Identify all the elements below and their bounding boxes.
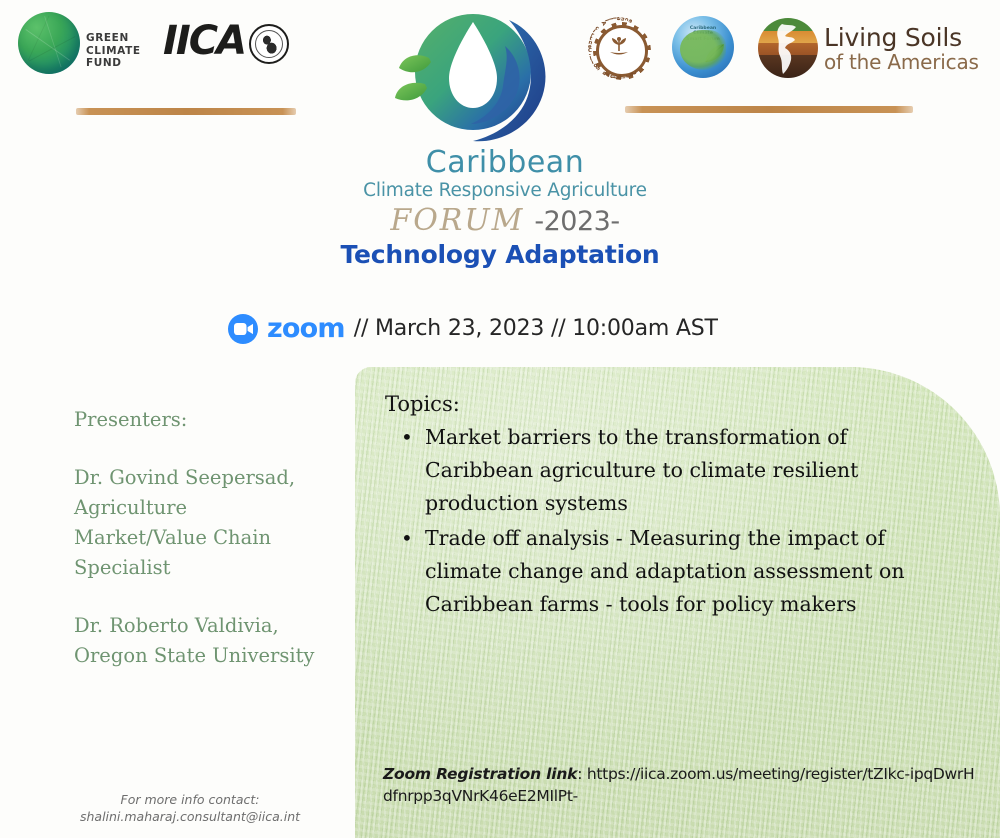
leaf-icon: [701, 40, 727, 66]
presenter-entry-1: Dr. Govind Seepersad, Agriculture Market…: [74, 463, 334, 583]
registration-label: Zoom Registration link: [383, 765, 577, 783]
living-soils-line-1: Living Soils: [824, 24, 979, 51]
living-soils-line-2: of the Americas: [824, 51, 979, 73]
contact-prompt: For more info contact:: [30, 792, 350, 809]
green-climate-fund-globe-icon: [18, 12, 80, 74]
gcf-line-1: GREEN: [86, 32, 141, 45]
presenters-spacer-1: [74, 435, 334, 463]
presenters-heading: Presenters:: [74, 405, 334, 435]
presenters-spacer-2: [74, 583, 334, 611]
registration-separator: :: [577, 765, 582, 783]
americas-silhouette: [758, 18, 818, 78]
climate-globe-logo: Caribbean ClimateSmart Forum: [672, 16, 734, 78]
gcf-line-2: CLIMATE: [86, 45, 141, 58]
green-climate-fund-logo: GREEN CLIMATE FUND: [18, 10, 148, 82]
forum-caribbean-text: Caribbean: [355, 146, 655, 180]
topics-content: Topics: Market barriers to the transform…: [385, 391, 925, 623]
divider-right: [625, 106, 913, 113]
contact-email[interactable]: shalini.maharaj.consultant@iica.int: [30, 809, 350, 826]
presenters-block: Presenters: Dr. Govind Seepersad, Agricu…: [74, 405, 334, 671]
water-drop-leaf-icon: [377, 6, 577, 156]
list-item: Market barriers to the transformation of…: [413, 421, 925, 520]
forum-wordmark: Caribbean Climate Responsive Agriculture…: [355, 146, 655, 238]
session-datetime: // March 23, 2023 // 10:00am AST: [354, 316, 718, 342]
green-climate-fund-wordmark: GREEN CLIMATE FUND: [86, 32, 141, 70]
caribbean-forum-logo: Caribbean Climate Responsive Agriculture…: [355, 6, 655, 241]
living-soils-wordmark: Living Soils of the Americas: [824, 24, 979, 73]
zoom-wordmark: zoom: [267, 315, 345, 343]
presenter-entry-2: Dr. Roberto Valdivia, Oregon State Unive…: [74, 611, 334, 671]
page-title: Technology Adaptation: [0, 240, 1000, 269]
registration-line: Zoom Registration link: https://iica.zoo…: [383, 763, 983, 807]
zoom-camera-icon: [228, 314, 258, 344]
topics-list: Market barriers to the transformation of…: [385, 421, 925, 621]
forum-subtitle-text: Climate Responsive Agriculture: [355, 180, 655, 201]
divider-left: [76, 108, 296, 115]
forum-word-text: FORUM: [390, 203, 524, 238]
topics-panel: Topics: Market barriers to the transform…: [355, 367, 1000, 838]
session-meta-row: zoom // March 23, 2023 // 10:00am AST: [228, 314, 718, 344]
globe-caption: Caribbean ClimateSmart Forum: [682, 26, 724, 42]
contact-block: For more info contact: shalini.maharaj.c…: [30, 792, 350, 825]
iica-wordmark: IICA: [163, 18, 245, 64]
forum-year-text: -2023-: [534, 206, 619, 237]
gcf-line-3: FUND: [86, 57, 141, 70]
living-soils-emblem-icon: [758, 18, 818, 78]
topics-label: Topics:: [385, 391, 925, 417]
list-item: Trade off analysis - Measuring the impac…: [413, 522, 925, 621]
iica-logo: IICA: [163, 18, 288, 70]
iica-globe-seal-icon: [249, 24, 289, 64]
